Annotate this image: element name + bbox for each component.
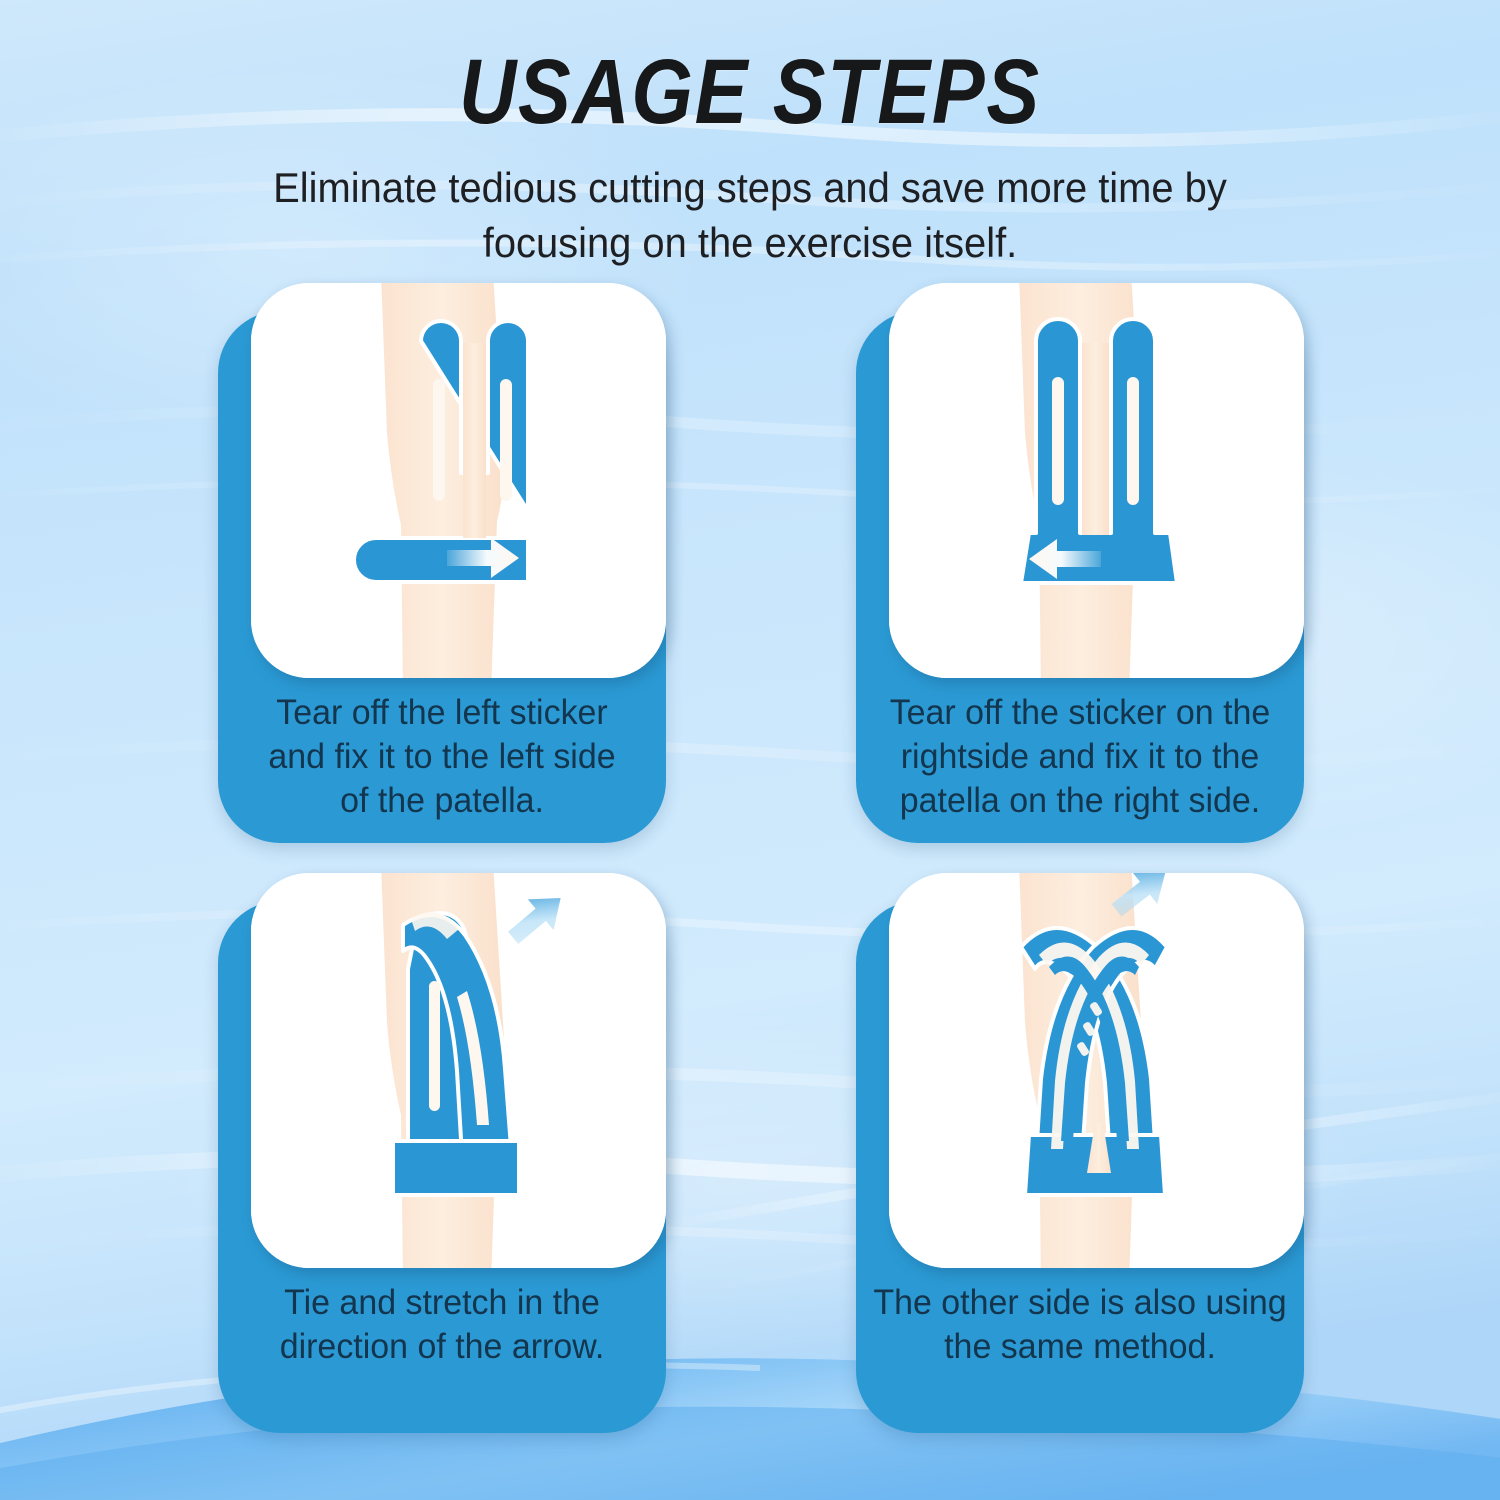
caption-line-1: Tie and stretch in the (232, 1281, 651, 1325)
subtitle-line-2: focusing on the exercise itself. (38, 215, 1463, 270)
kinesiology-tape (1021, 319, 1177, 583)
step-card-3-illustration (251, 873, 666, 1268)
step-card-3[interactable]: Tie and stretch in the direction of the … (196, 873, 666, 1433)
caption-line-1: Tear off the left sticker (232, 691, 651, 735)
caption-line-1: Tear off the sticker on the (870, 691, 1289, 735)
step-card-4-illustration (889, 873, 1304, 1268)
step-card-2[interactable]: Tear off the sticker on the rightside an… (834, 283, 1304, 843)
step-card-1-caption: Tear off the left sticker and fix it to … (232, 691, 651, 823)
caption-line-2: and fix it to the left side (232, 735, 651, 779)
step-card-1[interactable]: Tear off the left sticker and fix it to … (196, 283, 666, 843)
caption-line-2: direction of the arrow. (232, 1325, 651, 1369)
caption-line-2: the same method. (870, 1325, 1289, 1369)
step-card-1-illustration (251, 283, 666, 678)
caption-line-3: patella on the right side. (870, 779, 1289, 823)
caption-line-1: The other side is also using (870, 1281, 1289, 1325)
subtitle-line-1: Eliminate tedious cutting steps and save… (38, 160, 1463, 215)
step-card-2-caption: Tear off the sticker on the rightside an… (870, 691, 1289, 823)
page-subtitle: Eliminate tedious cutting steps and save… (38, 160, 1463, 271)
step-card-2-illustration (889, 283, 1304, 678)
caption-line-2: rightside and fix it to the (870, 735, 1289, 779)
step-card-4-caption: The other side is also using the same me… (870, 1281, 1289, 1369)
steps-grid: Tear off the left sticker and fix it to … (0, 283, 1500, 1433)
step-card-4[interactable]: The other side is also using the same me… (834, 873, 1304, 1433)
page-header: USAGE STEPS Eliminate tedious cutting st… (0, 0, 1500, 271)
step-card-3-caption: Tie and stretch in the direction of the … (232, 1281, 651, 1369)
page-title: USAGE STEPS (105, 46, 1395, 138)
caption-line-3: of the patella. (232, 779, 651, 823)
